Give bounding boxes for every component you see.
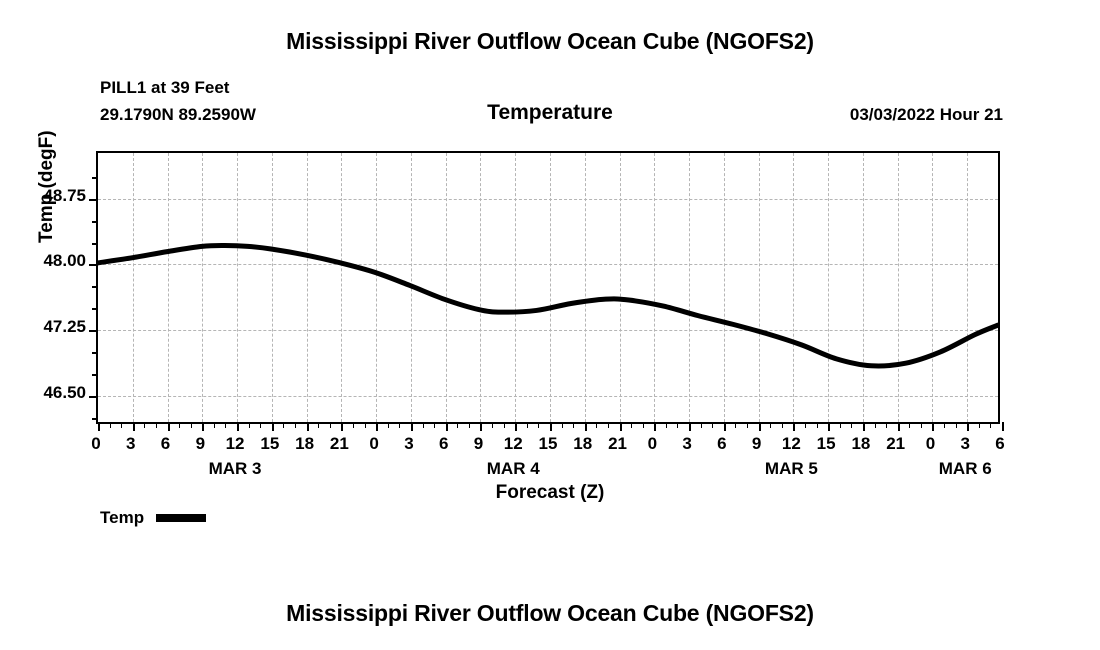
x-axis-tick bbox=[411, 422, 413, 431]
x-axis-day-label: MAR 6 bbox=[895, 459, 1035, 479]
x-axis-minor-tick bbox=[770, 422, 771, 428]
x-axis-tick bbox=[724, 422, 726, 431]
x-axis-minor-tick bbox=[365, 422, 366, 428]
x-axis-minor-tick bbox=[388, 422, 389, 428]
x-axis-minor-tick bbox=[851, 422, 852, 428]
y-axis-minor-tick bbox=[92, 418, 98, 420]
x-axis-minor-tick bbox=[840, 422, 841, 428]
x-axis-minor-tick bbox=[956, 422, 957, 428]
y-axis-minor-tick bbox=[92, 286, 98, 288]
x-axis-tick bbox=[967, 422, 969, 431]
y-axis-tick-label: 48.00 bbox=[8, 251, 86, 271]
y-axis-minor-tick bbox=[92, 243, 98, 245]
chart-page: Mississippi River Outflow Ocean Cube (NG… bbox=[0, 0, 1100, 650]
x-axis-minor-tick bbox=[283, 422, 284, 428]
x-axis-minor-tick bbox=[527, 422, 528, 428]
series-layer bbox=[98, 153, 998, 422]
x-axis-minor-tick bbox=[921, 422, 922, 428]
x-axis-day-label: MAR 5 bbox=[721, 459, 861, 479]
x-axis-tick bbox=[98, 422, 100, 431]
x-axis-minor-tick bbox=[353, 422, 354, 428]
y-axis-tick bbox=[89, 264, 98, 266]
x-axis-minor-tick bbox=[330, 422, 331, 428]
x-axis-minor-tick bbox=[538, 422, 539, 428]
x-axis-day-label: MAR 4 bbox=[443, 459, 583, 479]
x-axis-tick bbox=[237, 422, 239, 431]
x-axis-tick bbox=[759, 422, 761, 431]
y-axis-tick-label: 46.50 bbox=[8, 383, 86, 403]
x-axis-tick bbox=[689, 422, 691, 431]
x-axis-minor-tick bbox=[631, 422, 632, 428]
x-axis-tick bbox=[898, 422, 900, 431]
x-axis-tick bbox=[307, 422, 309, 431]
x-axis-minor-tick bbox=[990, 422, 991, 428]
x-axis-minor-tick bbox=[608, 422, 609, 428]
x-axis-minor-tick bbox=[573, 422, 574, 428]
x-axis-tick bbox=[376, 422, 378, 431]
x-axis-minor-tick bbox=[712, 422, 713, 428]
model-run-label: 03/03/2022 Hour 21 bbox=[850, 105, 1003, 125]
x-axis-minor-tick bbox=[909, 422, 910, 428]
y-axis-tick bbox=[89, 330, 98, 332]
x-axis-minor-tick bbox=[944, 422, 945, 428]
legend-swatch-temp bbox=[156, 514, 206, 522]
x-axis-minor-tick bbox=[434, 422, 435, 428]
temp-line-series bbox=[98, 153, 998, 422]
x-axis-tick bbox=[620, 422, 622, 431]
x-axis-minor-tick bbox=[156, 422, 157, 428]
plot-area: Temp (degF) bbox=[96, 151, 1000, 424]
x-axis-minor-tick bbox=[249, 422, 250, 428]
x-axis-tick bbox=[133, 422, 135, 431]
x-axis-minor-tick bbox=[469, 422, 470, 428]
x-axis-minor-tick bbox=[666, 422, 667, 428]
x-axis-minor-tick bbox=[701, 422, 702, 428]
x-axis-minor-tick bbox=[677, 422, 678, 428]
y-axis-tick-label: 48.75 bbox=[8, 186, 86, 206]
x-axis-tick bbox=[550, 422, 552, 431]
x-axis-minor-tick bbox=[782, 422, 783, 428]
x-axis-tick bbox=[341, 422, 343, 431]
legend-label-temp: Temp bbox=[100, 508, 144, 528]
x-axis-minor-tick bbox=[805, 422, 806, 428]
series-line-temp bbox=[98, 246, 998, 366]
x-axis-minor-tick bbox=[260, 422, 261, 428]
y-axis-minor-tick bbox=[92, 221, 98, 223]
x-axis-minor-tick bbox=[735, 422, 736, 428]
x-axis-tick bbox=[446, 422, 448, 431]
x-axis-minor-tick bbox=[817, 422, 818, 428]
x-axis-minor-tick bbox=[214, 422, 215, 428]
x-axis-tick-label: 6 bbox=[980, 434, 1020, 454]
page-title-top: Mississippi River Outflow Ocean Cube (NG… bbox=[0, 28, 1100, 55]
x-axis-tick bbox=[515, 422, 517, 431]
x-axis-minor-tick bbox=[295, 422, 296, 428]
x-axis-tick bbox=[585, 422, 587, 431]
x-axis-tick bbox=[480, 422, 482, 431]
x-axis-minor-tick bbox=[318, 422, 319, 428]
x-axis-minor-tick bbox=[225, 422, 226, 428]
legend: Temp bbox=[100, 508, 206, 528]
x-axis-minor-tick bbox=[643, 422, 644, 428]
x-axis-day-label: MAR 3 bbox=[165, 459, 305, 479]
x-axis-minor-tick bbox=[492, 422, 493, 428]
x-axis-tick bbox=[1002, 422, 1004, 431]
y-axis-tick bbox=[89, 396, 98, 398]
x-axis-tick bbox=[793, 422, 795, 431]
x-axis-minor-tick bbox=[191, 422, 192, 428]
x-axis-minor-tick bbox=[596, 422, 597, 428]
x-axis-minor-tick bbox=[121, 422, 122, 428]
x-axis-tick bbox=[828, 422, 830, 431]
station-label: PILL1 at 39 Feet bbox=[100, 78, 229, 98]
x-axis-minor-tick bbox=[110, 422, 111, 428]
x-axis-tick bbox=[202, 422, 204, 431]
x-axis-tick bbox=[168, 422, 170, 431]
y-axis-minor-tick bbox=[92, 308, 98, 310]
x-axis-minor-tick bbox=[747, 422, 748, 428]
y-axis-minor-tick bbox=[92, 177, 98, 179]
x-axis-minor-tick bbox=[423, 422, 424, 428]
x-axis-minor-tick bbox=[504, 422, 505, 428]
x-axis-minor-tick bbox=[875, 422, 876, 428]
x-axis-tick bbox=[863, 422, 865, 431]
x-axis-minor-tick bbox=[399, 422, 400, 428]
x-axis-minor-tick bbox=[144, 422, 145, 428]
y-axis-tick bbox=[89, 199, 98, 201]
y-axis-minor-tick bbox=[92, 374, 98, 376]
x-axis-tick bbox=[932, 422, 934, 431]
y-axis-tick-label: 47.25 bbox=[8, 317, 86, 337]
x-axis-tick bbox=[272, 422, 274, 431]
x-axis-minor-tick bbox=[179, 422, 180, 428]
x-axis-minor-tick bbox=[562, 422, 563, 428]
x-axis-minor-tick bbox=[457, 422, 458, 428]
x-axis-minor-tick bbox=[979, 422, 980, 428]
y-axis-minor-tick bbox=[92, 352, 98, 354]
x-axis-title: Forecast (Z) bbox=[0, 482, 1100, 504]
page-title-bottom: Mississippi River Outflow Ocean Cube (NG… bbox=[0, 600, 1100, 627]
x-axis-tick bbox=[654, 422, 656, 431]
x-axis-minor-tick bbox=[886, 422, 887, 428]
